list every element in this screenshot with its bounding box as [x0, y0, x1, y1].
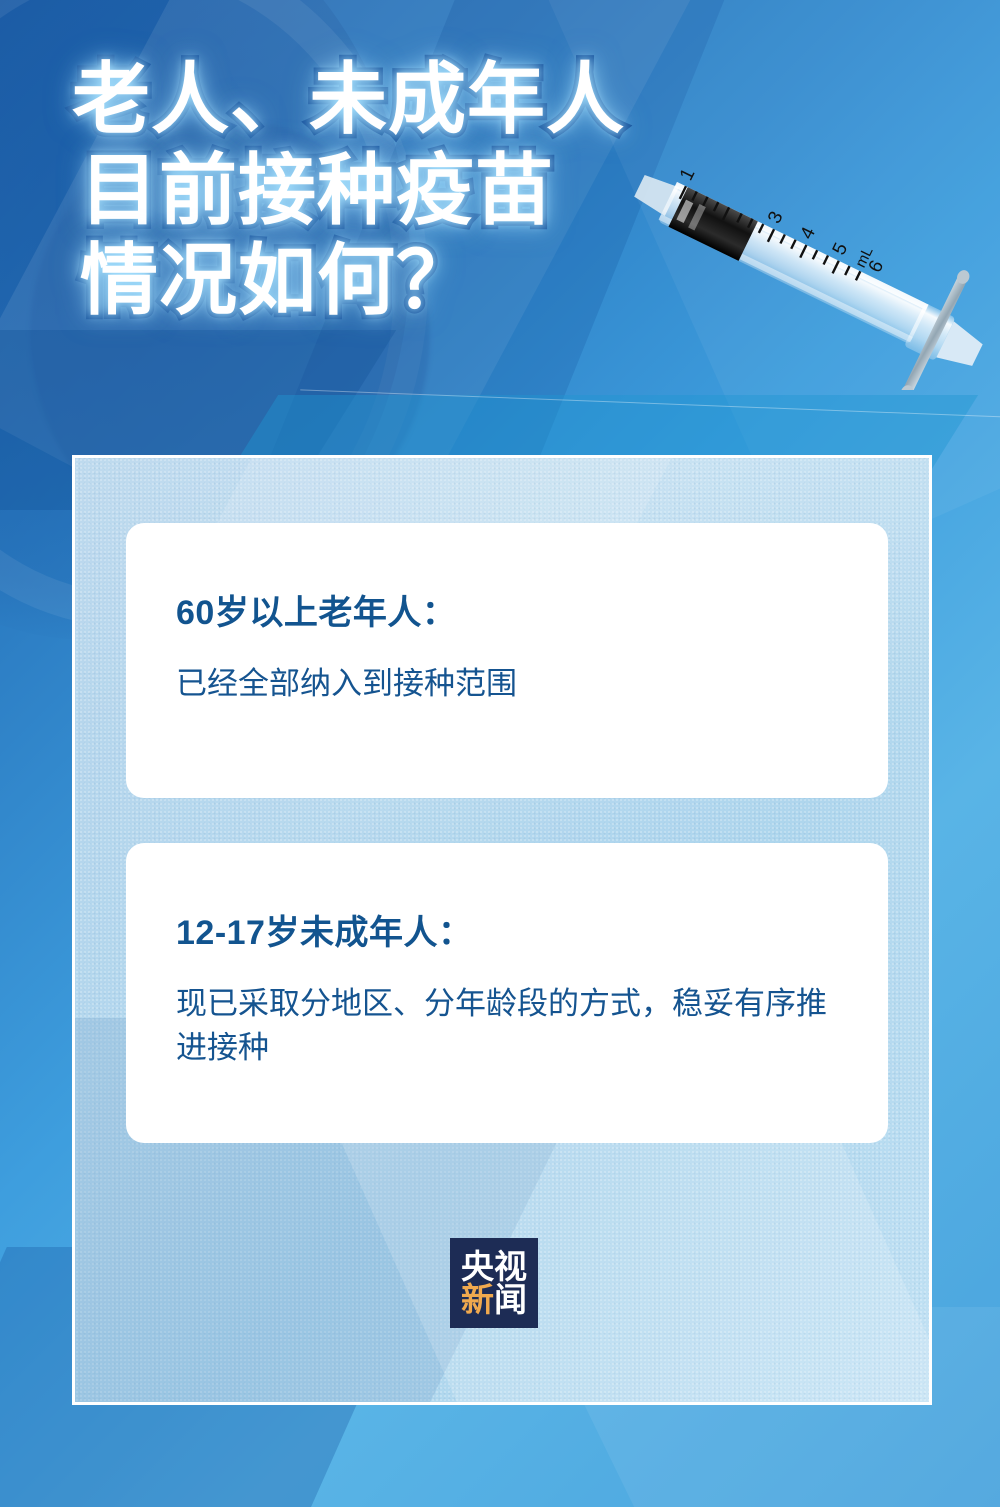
- elderly-card-title: 60岁以上老年人：: [176, 585, 838, 634]
- logo-char-wen: 闻: [494, 1283, 527, 1316]
- elderly-card: 60岁以上老年人： 已经全部纳入到接种范围: [126, 523, 888, 798]
- headline-line-1: 老人、未成年人: [72, 58, 932, 141]
- headline-line-3: 情况如何？: [72, 239, 932, 322]
- logo-row-bottom: 新 闻: [461, 1283, 527, 1316]
- logo-row-top: 央 视: [461, 1250, 527, 1283]
- poster-root: 1 3 4 5 mL 6 老人、未成年人 目前接种疫苗 情况如何？: [0, 0, 1000, 1507]
- minors-card-title: 12-17岁未成年人：: [176, 905, 838, 954]
- page-title: 老人、未成年人 目前接种疫苗 情况如何？: [72, 58, 932, 330]
- minors-card: 12-17岁未成年人： 现已采取分地区、分年龄段的方式，稳妥有序推进接种: [126, 843, 888, 1143]
- minors-card-body: 现已采取分地区、分年龄段的方式，稳妥有序推进接种: [176, 982, 838, 1070]
- headline-line-2: 目前接种疫苗: [72, 149, 932, 232]
- cctv-news-logo: 央 视 新 闻: [450, 1238, 538, 1328]
- content-panel: 60岁以上老年人： 已经全部纳入到接种范围 12-17岁未成年人： 现已采取分地…: [72, 455, 932, 1405]
- logo-char-yang: 央: [461, 1250, 494, 1283]
- logo-char-shi: 视: [494, 1250, 527, 1283]
- elderly-card-body: 已经全部纳入到接种范围: [176, 662, 838, 706]
- logo-char-xin: 新: [461, 1283, 494, 1316]
